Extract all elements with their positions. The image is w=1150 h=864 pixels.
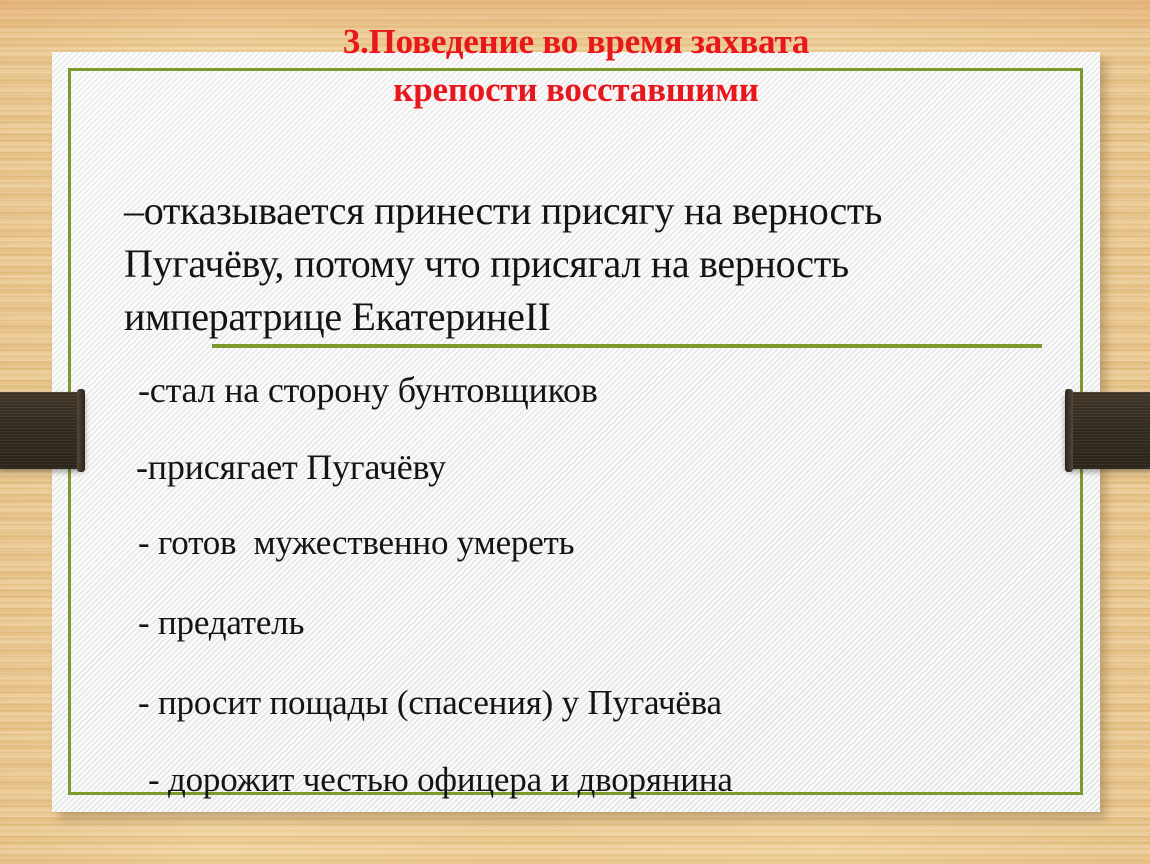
bullet-list: -стал на сторону бунтовщиков -присягает … [124, 368, 1134, 802]
list-item: - готов мужественно умереть [124, 521, 1134, 565]
intro-line-1: –отказывается принести присягу на вернос… [124, 184, 1134, 237]
ribbon-cap-icon [77, 389, 85, 472]
page-title: 3.Поведение во время захвата крепости во… [52, 18, 1100, 114]
intro-line-2: Пугачёву, потому что присягал на верност… [124, 237, 1134, 290]
page-title-line-2: крепости восставшими [52, 66, 1100, 114]
decorative-ribbon-right [1065, 392, 1150, 469]
list-item: -присягает Пугачёву [124, 445, 1134, 489]
list-item: -стал на сторону бунтовщиков [124, 368, 1134, 412]
list-item: - дорожит честью офицера и дворянина [124, 758, 1134, 802]
decorative-ribbon-left [0, 392, 85, 469]
page-title-line-1: 3.Поведение во время захвата [52, 18, 1100, 66]
intro-line-3: императрице ЕкатеринеII [124, 290, 1134, 343]
list-item: - просит пощады (спасения) у Пугачёва [124, 681, 1134, 725]
intro-paragraph: –отказывается принести присягу на вернос… [124, 184, 1134, 343]
slide-canvas: –отказывается принести присягу на вернос… [0, 0, 1150, 864]
ribbon-cap-icon [1065, 389, 1073, 472]
section-divider [212, 344, 1042, 348]
list-item: - предатель [124, 601, 1134, 645]
content-card: –отказывается принести присягу на вернос… [52, 52, 1100, 812]
